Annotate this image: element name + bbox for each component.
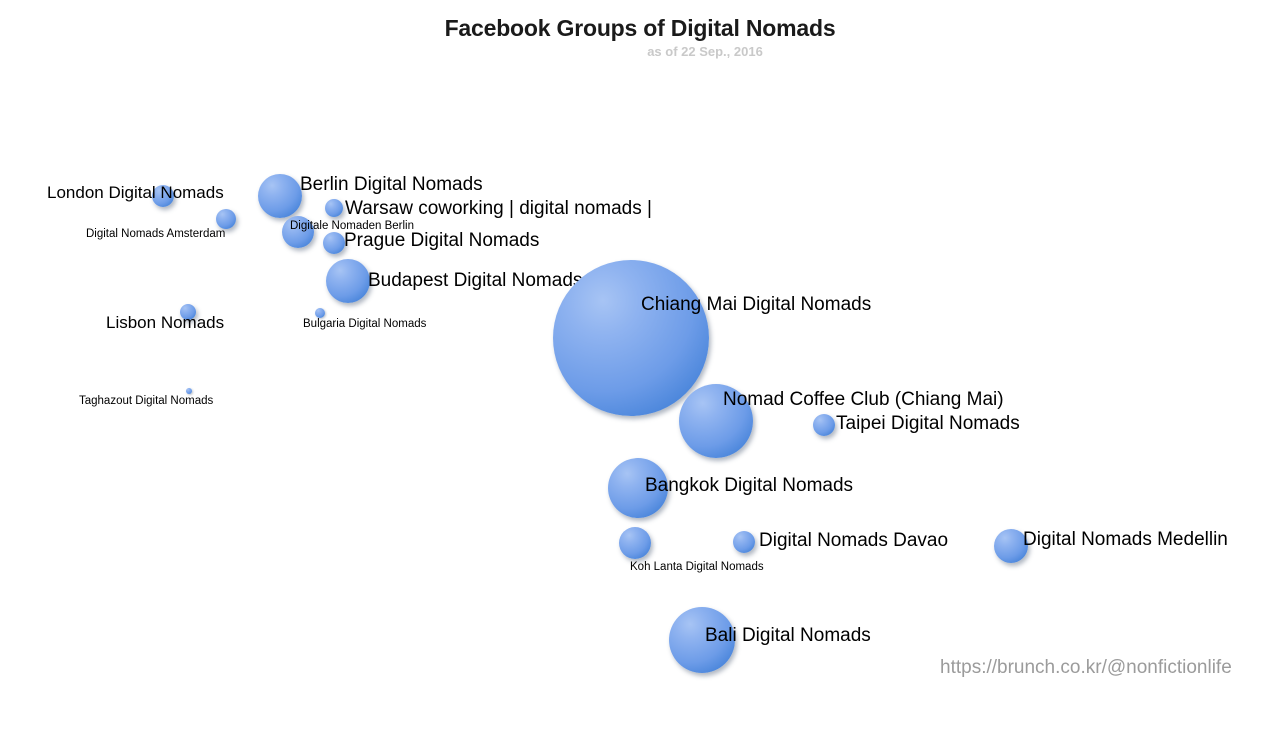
bubble-point[interactable]: [553, 260, 709, 416]
bubble-point[interactable]: [258, 174, 302, 218]
bubble-point[interactable]: [186, 388, 192, 394]
bubble-label: Lisbon Nomads: [106, 314, 224, 332]
bubble-label: Budapest Digital Nomads: [368, 271, 582, 291]
bubble-label: Digital Nomads Amsterdam: [86, 228, 225, 240]
bubble-label: Warsaw coworking | digital nomads |: [345, 199, 652, 219]
bubble-point[interactable]: [325, 199, 343, 217]
bubble-point[interactable]: [323, 232, 345, 254]
bubble-point[interactable]: [315, 308, 325, 318]
bubble-label: Taghazout Digital Nomads: [79, 395, 213, 407]
bubble-label: Nomad Coffee Club (Chiang Mai): [723, 390, 1004, 410]
bubble-point[interactable]: [733, 531, 755, 553]
chart-subtitle: as of 22 Sep., 2016: [0, 44, 1280, 59]
bubble-label: Digital Nomads Medellin: [1023, 530, 1228, 550]
chart-header: Facebook Groups of Digital Nomads as of …: [0, 14, 1280, 42]
source-url[interactable]: https://brunch.co.kr/@nonfictionlife: [940, 657, 1232, 679]
bubble-label: Chiang Mai Digital Nomads: [641, 295, 871, 315]
bubble-point[interactable]: [216, 209, 236, 229]
bubble-label: Taipei Digital Nomads: [836, 414, 1020, 434]
bubble-label: London Digital Nomads: [47, 184, 224, 202]
bubble-point[interactable]: [813, 414, 835, 436]
bubble-point[interactable]: [619, 527, 651, 559]
bubble-label: Berlin Digital Nomads: [300, 175, 483, 195]
bubble-label: Bali Digital Nomads: [705, 626, 871, 646]
bubble-label: Digital Nomads Davao: [759, 531, 948, 551]
bubble-label: Bulgaria Digital Nomads: [303, 318, 426, 330]
bubble-label: Bangkok Digital Nomads: [645, 476, 853, 496]
bubble-label: Prague Digital Nomads: [344, 231, 539, 251]
page-title: Facebook Groups of Digital Nomads: [0, 14, 1280, 42]
bubble-point[interactable]: [326, 259, 370, 303]
bubble-label: Koh Lanta Digital Nomads: [630, 561, 764, 573]
bubble-chart-canvas: Facebook Groups of Digital Nomads as of …: [0, 0, 1280, 736]
